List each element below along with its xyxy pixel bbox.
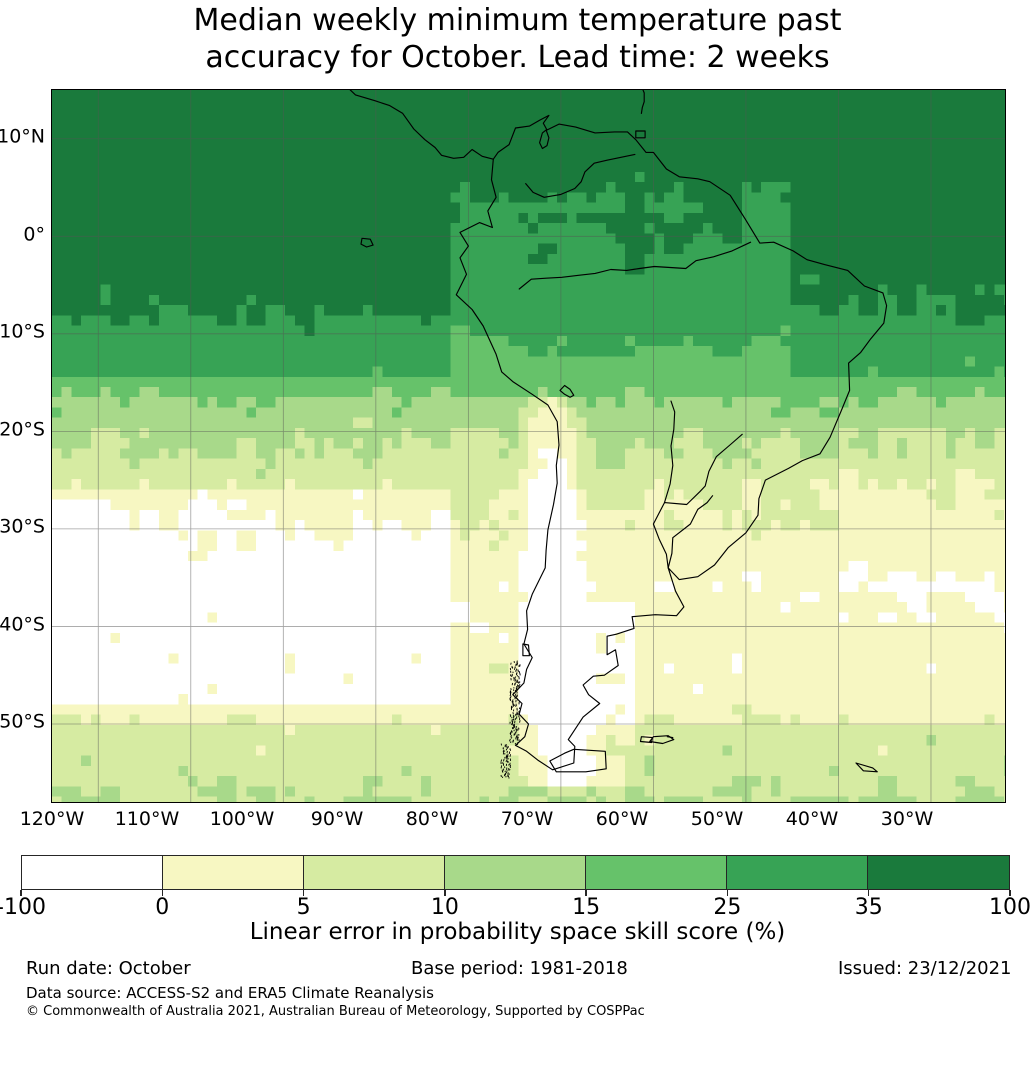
xtick-30W: 30°W: [881, 808, 933, 830]
ytick-50S: 50°S: [0, 713, 45, 732]
colorbar[interactable]: [21, 855, 1010, 890]
colorbar-segment-4: [586, 856, 727, 889]
colorbar-ticklabel-5: 25: [713, 895, 741, 920]
colorbar-ticks: -1000510152535100: [0, 890, 1035, 920]
xtick-60W: 60°W: [596, 808, 648, 830]
colorbar-segment-5: [727, 856, 868, 889]
footer-base-period: Base period: 1981-2018: [411, 958, 628, 980]
colorbar-ticklabel-3: 10: [431, 895, 459, 920]
footer-row-primary: Run date: October Base period: 1981-2018…: [0, 958, 1035, 982]
colorbar-ticklabel-1: 0: [155, 895, 169, 920]
ytick-40S: 40°S: [0, 616, 45, 635]
ytick-0: 0°: [23, 226, 45, 245]
colorbar-label: Linear error in probability space skill …: [0, 918, 1035, 946]
chart-title-line-2: accuracy for October. Lead time: 2 weeks: [0, 39, 1035, 76]
ytick-30S: 30°S: [0, 518, 45, 537]
xtick-90W: 90°W: [311, 808, 363, 830]
ytick-10S: 10°S: [0, 323, 45, 342]
xtick-70W: 70°W: [501, 808, 553, 830]
xtick-100W: 100°W: [210, 808, 275, 830]
ytick-10N: 10°N: [0, 128, 45, 147]
ytick-20S: 20°S: [0, 421, 45, 440]
colorbar-ticklabel-0: -100: [0, 895, 46, 920]
footer-run-date: Run date: October: [26, 958, 191, 980]
chart-title: Median weekly minimum temperature past a…: [0, 2, 1035, 76]
colorbar-ticklabel-6: 35: [855, 895, 883, 920]
footer: Run date: October Base period: 1981-2018…: [0, 958, 1035, 1028]
xtick-40W: 40°W: [786, 808, 838, 830]
figure-canvas: Median weekly minimum temperature past a…: [0, 0, 1035, 1065]
colorbar-segment-6: [868, 856, 1009, 889]
footer-copyright: © Commonwealth of Australia 2021, Austra…: [26, 1004, 645, 1020]
footer-issued-date: Issued: 23/12/2021: [838, 958, 1012, 980]
xtick-50W: 50°W: [691, 808, 743, 830]
colorbar-segment-2: [304, 856, 445, 889]
colorbar-segment-0: [22, 856, 163, 889]
colorbar-ticklabel-7: 100: [989, 895, 1031, 920]
colorbar-segment-1: [163, 856, 304, 889]
map-plot-area[interactable]: [51, 89, 1006, 803]
chart-title-line-1: Median weekly minimum temperature past: [0, 2, 1035, 39]
skill-score-heatmap: [52, 90, 1005, 802]
xtick-120W: 120°W: [20, 808, 85, 830]
colorbar-segment-3: [445, 856, 586, 889]
colorbar-ticklabel-2: 5: [297, 895, 311, 920]
longitude-tick-labels: 120°W 110°W 100°W 90°W 80°W 70°W 60°W 50…: [51, 808, 1004, 836]
footer-data-source: Data source: ACCESS-S2 and ERA5 Climate …: [26, 984, 434, 1002]
skill-field-cells: [52, 90, 1005, 802]
xtick-80W: 80°W: [406, 808, 458, 830]
xtick-110W: 110°W: [115, 808, 180, 830]
latitude-tick-labels: 10°N 0° 10°S 20°S 30°S 40°S 50°S: [0, 89, 45, 801]
colorbar-ticklabel-4: 15: [572, 895, 600, 920]
